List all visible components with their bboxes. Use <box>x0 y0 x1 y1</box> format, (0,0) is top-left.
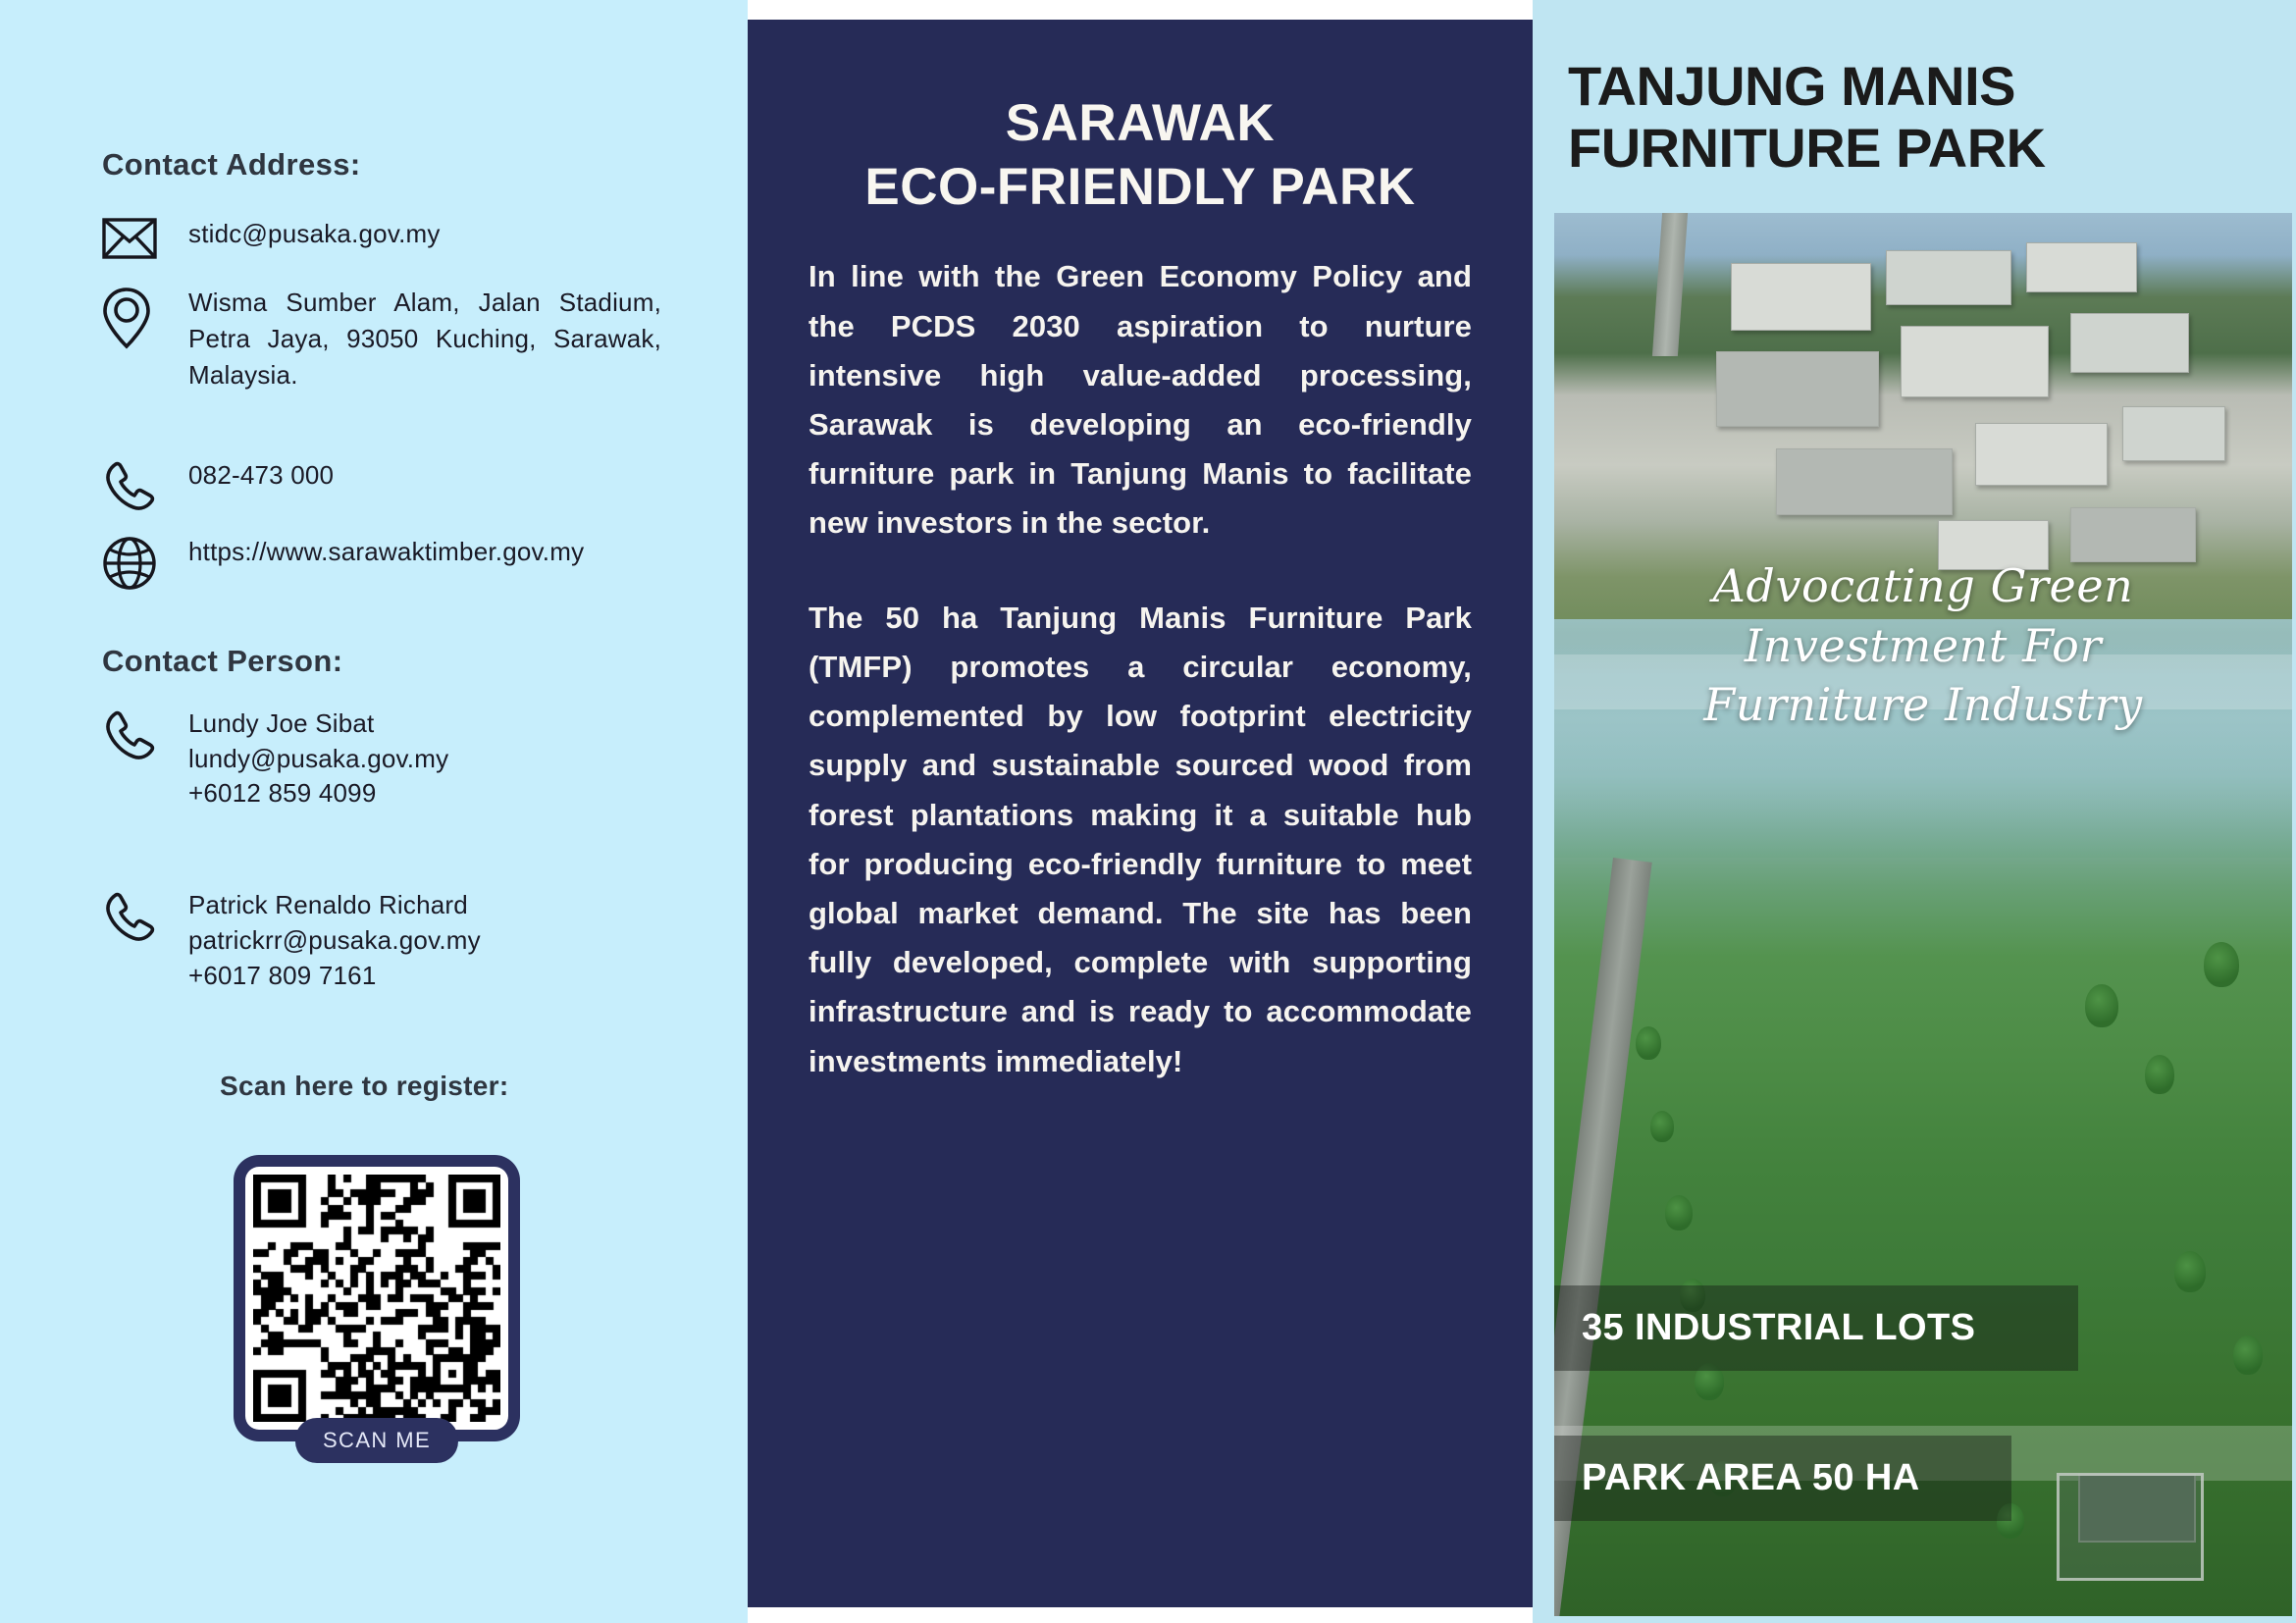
stat-park-area: PARK AREA 50 HA <box>1554 1436 2011 1521</box>
hero-tagline-line1: Advocating Green Investment For <box>1713 559 2134 672</box>
phone-icon <box>102 457 188 514</box>
hero-title-line1: TANJUNG MANIS <box>1568 55 2015 117</box>
tree <box>2233 1335 2263 1375</box>
contact-address-heading: Contact Address: <box>102 147 748 183</box>
contact-person-details: Patrick Renaldo Richard patrickrr@pusaka… <box>188 888 661 994</box>
tree <box>2174 1251 2206 1292</box>
building <box>1901 326 2048 397</box>
person-email: patrickrr@pusaka.gov.my <box>188 925 481 955</box>
envelope-icon <box>102 216 188 259</box>
building <box>1731 263 1871 331</box>
person-name: Lundy Joe Sibat <box>188 708 374 738</box>
contact-website-text: https://www.sarawaktimber.gov.my <box>188 534 661 570</box>
tree <box>1636 1026 1661 1060</box>
contact-panel: Contact Address: stidc@pusaka.gov.my <box>0 0 748 1623</box>
description-panel: SARAWAK ECO-FRIENDLY PARK In line with t… <box>748 20 1533 1607</box>
contact-person-details: Lundy Joe Sibat lundy@pusaka.gov.my +601… <box>188 707 661 812</box>
contact-address-list: stidc@pusaka.gov.my Wisma Sumber Alam, J… <box>0 216 748 591</box>
contact-row-address: Wisma Sumber Alam, Jalan Stadium, Petra … <box>102 285 748 430</box>
contact-email-text: stidc@pusaka.gov.my <box>188 216 661 252</box>
person-phone: +6012 859 4099 <box>188 778 377 808</box>
tree <box>2085 984 2118 1027</box>
qr-code-inner <box>245 1167 508 1430</box>
building <box>2070 507 2196 562</box>
center-paragraph-1: In line with the Green Economy Policy an… <box>809 252 1472 548</box>
center-paragraph-2: The 50 ha Tanjung Manis Furniture Park (… <box>809 594 1472 1086</box>
person-phone: +6017 809 7161 <box>188 961 377 990</box>
scan-here-title: Scan here to register: <box>220 1071 748 1102</box>
person-email: lundy@pusaka.gov.my <box>188 744 448 773</box>
building <box>2122 406 2225 461</box>
phone-icon <box>102 888 188 945</box>
building <box>1975 423 2108 486</box>
tree <box>2145 1055 2174 1094</box>
contact-person-heading: Contact Person: <box>102 644 748 679</box>
hero-tagline: Advocating Green Investment For Furnitur… <box>1554 556 2292 735</box>
contact-person-list: Lundy Joe Sibat lundy@pusaka.gov.my +601… <box>0 707 748 994</box>
hero-panel: TANJUNG MANIS FURNITURE PARK <box>1533 0 2296 1623</box>
access-road <box>1652 213 1688 356</box>
qr-code-block[interactable]: SCAN ME <box>234 1155 520 1441</box>
hero-tagline-line2: Furniture Industry <box>1593 675 2253 735</box>
building <box>2070 313 2188 372</box>
tree <box>2204 942 2239 987</box>
building <box>1886 250 2011 305</box>
qr-code-image <box>253 1175 500 1422</box>
brochure-root: Contact Address: stidc@pusaka.gov.my <box>0 0 2296 1623</box>
globe-icon <box>102 534 188 591</box>
contact-row-email[interactable]: stidc@pusaka.gov.my <box>102 216 748 259</box>
contact-phone-text: 082-473 000 <box>188 457 661 494</box>
building <box>1716 351 1878 427</box>
contact-row-website[interactable]: https://www.sarawaktimber.gov.my <box>102 534 748 591</box>
contact-address-text: Wisma Sumber Alam, Jalan Stadium, Petra … <box>188 285 661 430</box>
tree <box>1650 1111 1674 1142</box>
stat-industrial-lots: 35 INDUSTRIAL LOTS <box>1554 1285 2078 1371</box>
person-name: Patrick Renaldo Richard <box>188 890 468 919</box>
location-pin-icon <box>102 285 188 349</box>
contact-person-1[interactable]: Patrick Renaldo Richard patrickrr@pusaka… <box>102 888 748 994</box>
contact-person-0[interactable]: Lundy Joe Sibat lundy@pusaka.gov.my +601… <box>102 707 748 812</box>
center-title-line1: SARAWAK <box>1006 94 1275 152</box>
contact-row-phone[interactable]: 082-473 000 <box>102 457 748 514</box>
tree <box>1665 1195 1693 1230</box>
center-title: SARAWAK ECO-FRIENDLY PARK <box>809 92 1472 219</box>
hero-title: TANJUNG MANIS FURNITURE PARK <box>1568 55 2296 180</box>
hero-title-line2: FURNITURE PARK <box>1568 117 2296 179</box>
building <box>2026 242 2137 292</box>
phone-icon <box>102 707 188 763</box>
scan-me-badge: SCAN ME <box>295 1418 458 1463</box>
building <box>1776 448 1953 516</box>
center-title-line2: ECO-FRIENDLY PARK <box>809 156 1472 220</box>
aerial-photo: Advocating Green Investment For Furnitur… <box>1554 213 2292 1616</box>
plot-boundary <box>2057 1473 2204 1581</box>
